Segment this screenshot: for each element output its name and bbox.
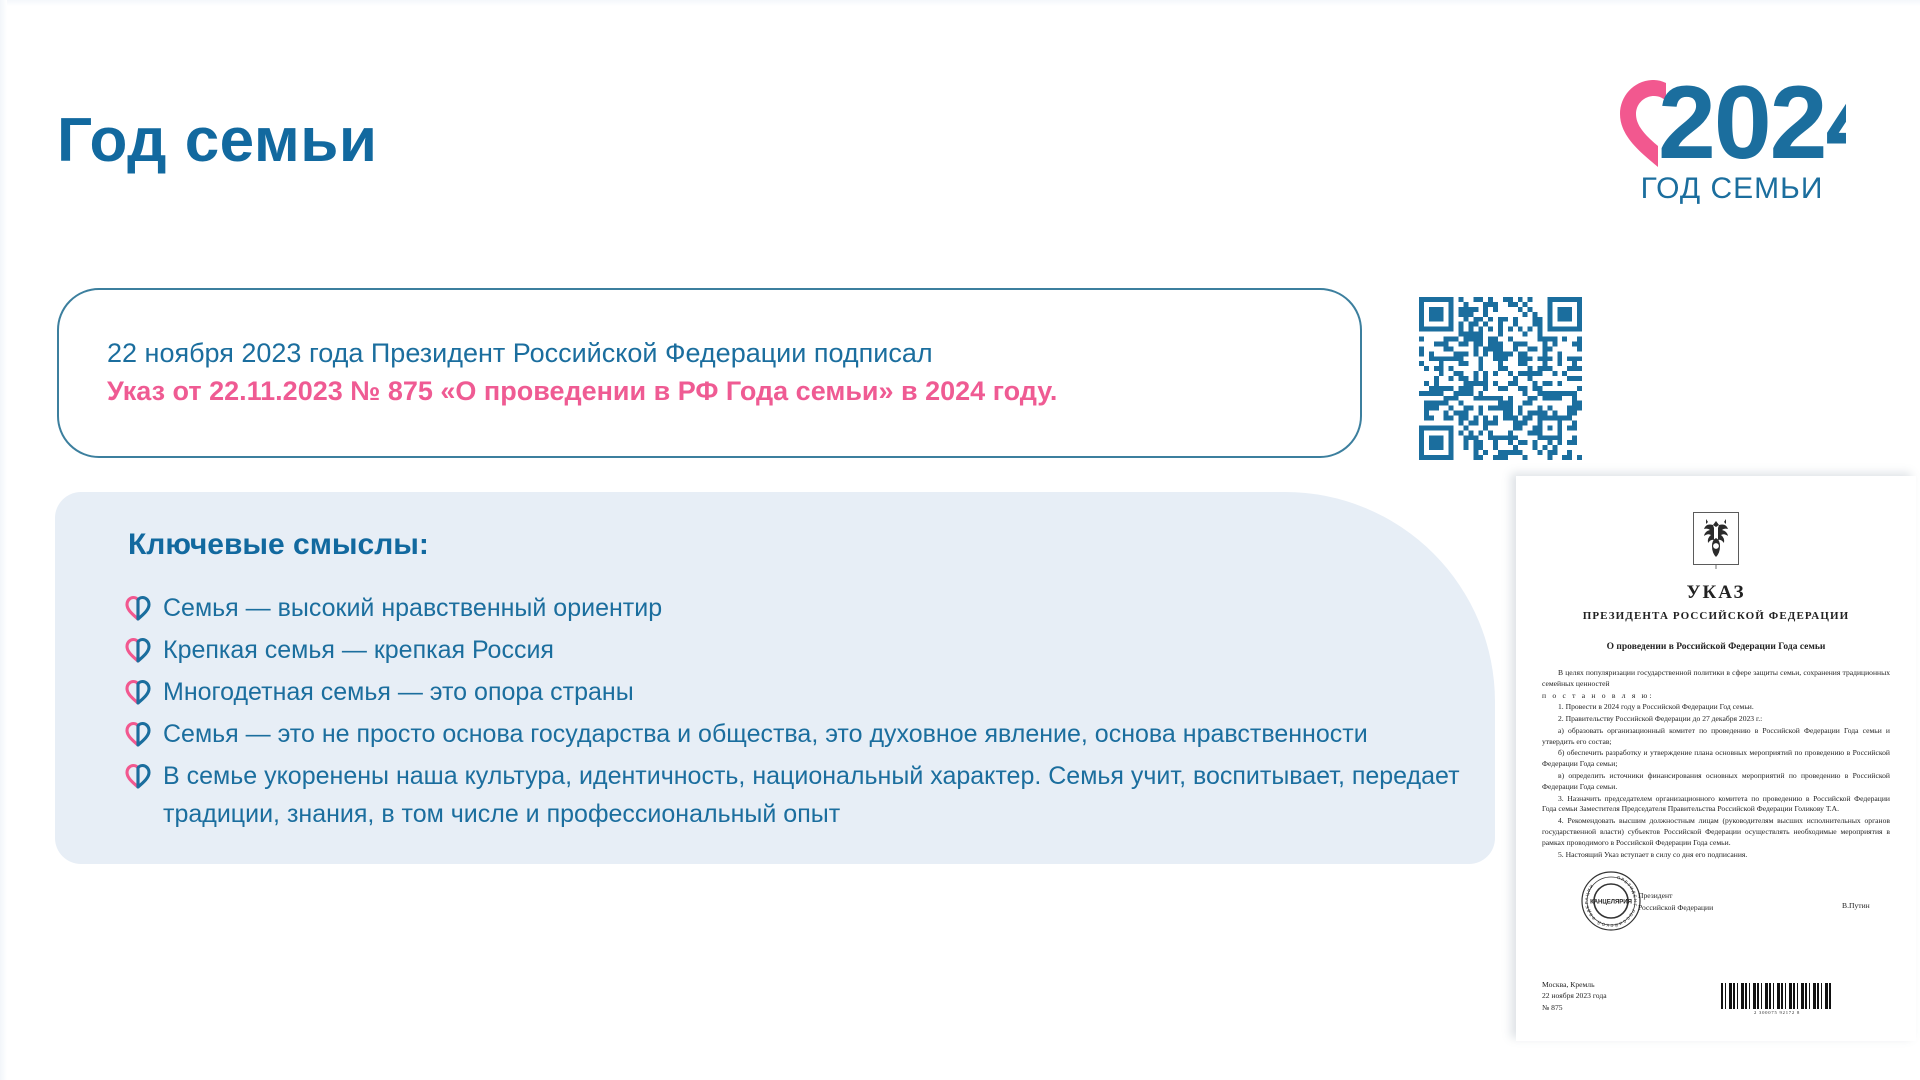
decree-doc-heading: УКАЗ: [1542, 582, 1890, 604]
key-meanings-title: Ключевые смыслы:: [128, 528, 429, 562]
russian-coat-of-arms-icon: [1693, 512, 1739, 570]
decree-doc-barcode: 2 300075 92172 8: [1721, 983, 1833, 1015]
footer-city: Москва, Кремль: [1542, 979, 1607, 990]
qr-code[interactable]: [1419, 297, 1582, 460]
list-item-label: Семья — высокий нравственный ориентир: [163, 590, 662, 628]
decree-doc-footer: Москва, Кремль 22 ноября 2023 года № 875: [1542, 979, 1607, 1013]
decree-doc-body: В целях популяризации государственной по…: [1542, 668, 1890, 860]
list-item-label: Крепкая семья — крепкая Россия: [163, 632, 554, 670]
decree-doc-signature-name: В.Путин: [1842, 901, 1870, 910]
list-item: В семье укоренены наша культура, идентич…: [125, 758, 1485, 833]
decree-paragraph: б) обеспечить разработку и утверждение п…: [1542, 748, 1890, 770]
signature-title-line-2: Российской Федерации: [1638, 902, 1713, 913]
year-of-family-logo: 2024 ГОД СЕМЬИ: [1596, 50, 1846, 205]
list-item-label: В семье укоренены наша культура, идентич…: [163, 758, 1460, 833]
decree-paragraph: 2. Правительству Российской Федерации до…: [1542, 714, 1890, 725]
signature-title-line-1: Президент: [1638, 890, 1713, 901]
heart-icon: [125, 721, 151, 747]
heart-icon: [125, 763, 151, 789]
decree-document-image: УКАЗ ПРЕЗИДЕНТА РОССИЙСКОЙ ФЕДЕРАЦИИ О п…: [1516, 476, 1916, 1041]
list-item: Многодетная семья — это опора страны: [125, 674, 1485, 712]
list-item: Семья — высокий нравственный ориентир: [125, 590, 1485, 628]
key-meanings-panel: Ключевые смыслы: Семья — высокий нравств…: [55, 492, 1495, 864]
decree-doc-signature-title: Президент Российской Федерации: [1638, 890, 1713, 913]
decree-callout-box: 22 ноября 2023 года Президент Российской…: [57, 288, 1362, 458]
page-title: Год семьи: [57, 108, 377, 173]
qr-code-image: [1419, 297, 1582, 460]
decree-doc-subheading: ПРЕЗИДЕНТА РОССИЙСКОЙ ФЕДЕРАЦИИ: [1542, 610, 1890, 622]
slide-root: Год семьи 2024 ГОД СЕМЬИ 22 ноября 2023 …: [0, 0, 1920, 1080]
barcode-bars: [1721, 983, 1833, 1009]
decree-paragraph: п о с т а н о в л я ю:: [1542, 691, 1890, 702]
footer-number: № 875: [1542, 1002, 1607, 1013]
decree-doc-signature-block: ПРЕЗИДЕНТ РОССИЙСКОЙ ФЕДЕРАЦИИ КАНЦЕЛЯРИ…: [1542, 874, 1890, 930]
key-meanings-list: Семья — высокий нравственный ориентир Кр…: [125, 590, 1485, 837]
barcode-number: 2 300075 92172 8: [1721, 1010, 1833, 1015]
heart-icon: [125, 637, 151, 663]
decree-callout-line-2: Указ от 22.11.2023 № 875 «О проведении в…: [107, 372, 1327, 410]
footer-date: 22 ноября 2023 года: [1542, 990, 1607, 1001]
chancellery-stamp-icon: ПРЕЗИДЕНТ РОССИЙСКОЙ ФЕДЕРАЦИИ КАНЦЕЛЯРИ…: [1580, 870, 1642, 932]
list-item: Крепкая семья — крепкая Россия: [125, 632, 1485, 670]
left-edge-band: [0, 0, 7, 1080]
decree-callout-line-1: 22 ноября 2023 года Президент Российской…: [107, 334, 1327, 372]
top-edge-band: [0, 0, 1920, 6]
list-item-label: Семья — это не просто основа государства…: [163, 716, 1368, 754]
decree-paragraph: а) образовать организационный комитет по…: [1542, 726, 1890, 748]
decree-doc-title: О проведении в Российской Федерации Года…: [1542, 642, 1890, 652]
logo-subtitle-text: ГОД СЕМЬИ: [1641, 172, 1824, 205]
decree-paragraph: в) определить источники финансирования о…: [1542, 771, 1890, 793]
decree-document-page: УКАЗ ПРЕЗИДЕНТА РОССИЙСКОЙ ФЕДЕРАЦИИ О п…: [1516, 476, 1916, 1041]
stamp-center-text: КАНЦЕЛЯРИЯ: [1590, 900, 1632, 906]
logo-year-text: 2024: [1658, 65, 1846, 181]
decree-callout-text: 22 ноября 2023 года Президент Российской…: [107, 334, 1327, 411]
decree-paragraph: 4. Рекомендовать высшим должностным лица…: [1542, 816, 1890, 848]
heart-icon: [125, 595, 151, 621]
decree-paragraph: 5. Настоящий Указ вступает в силу со дня…: [1542, 850, 1890, 861]
decree-paragraph: 3. Назначить председателем организационн…: [1542, 794, 1890, 816]
list-item-label: Многодетная семья — это опора страны: [163, 674, 634, 712]
list-item: Семья — это не просто основа государства…: [125, 716, 1485, 754]
heart-icon: [125, 679, 151, 705]
decree-paragraph: 1. Провести в 2024 году в Российской Фед…: [1542, 702, 1890, 713]
decree-paragraph: В целях популяризации государственной по…: [1542, 668, 1890, 690]
